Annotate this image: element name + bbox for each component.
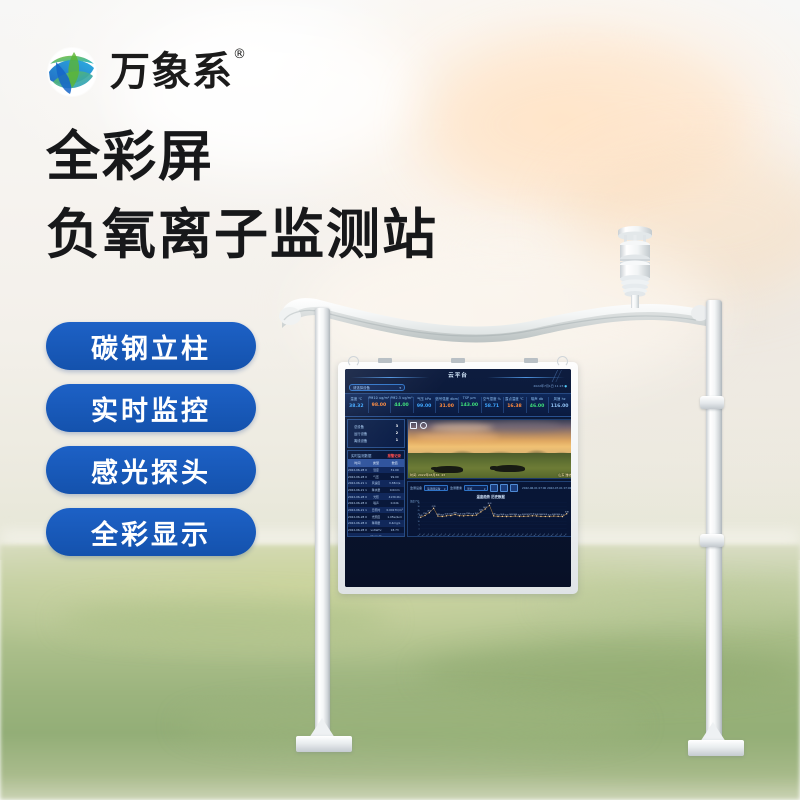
right-post (706, 300, 722, 744)
y-tick-label: 5 (419, 524, 420, 526)
registered-mark: ® (233, 48, 247, 61)
column-header: 时间 (348, 460, 367, 465)
data-label: 16.20 (548, 514, 552, 516)
table-row[interactable]: 2022-06-28 09:33:15气压99.00 (348, 473, 404, 480)
y-tick-label: 30 (418, 506, 420, 508)
headline-block: 全彩屏 负氧离子监测站 (46, 124, 438, 268)
ultrasonic-weather-sensor (604, 222, 666, 308)
data-label: 16.80 (552, 514, 556, 516)
alarm-record-link[interactable]: 报警记录 (387, 453, 401, 458)
data-label: 17.10 (531, 513, 535, 515)
y-tick-label: 0 (419, 528, 420, 530)
device-select[interactable]: 请选择设备 ▾ (349, 384, 405, 391)
data-label: 18.20 (475, 512, 479, 514)
range-end: 2022-07-01 07:00 (547, 486, 571, 490)
table-cell: 18.73 (385, 528, 404, 532)
stat-label: 总设备 (354, 424, 364, 429)
table-cell: 环境气压 (367, 535, 386, 536)
table-cell: 2022-06-28 09:08:30 (348, 501, 367, 505)
grass-streak (180, 700, 640, 750)
dashboard: 云平台 请选择设备 ▾ 2022年7月1日 11:23 ● 温度 ℃38 (345, 369, 571, 587)
grass-streak (60, 600, 390, 640)
metric-label: TSP μm (458, 396, 481, 400)
left-panel: 总设备3运行设备2离线设备1 实时监测数据 报警记录 时间类型数值 2022-0… (347, 419, 405, 537)
metric-value: 143.00 (458, 403, 481, 408)
device-stats-card: 总设备3运行设备2离线设备1 (347, 419, 405, 448)
metric-label: PM2.5 ug/m³ (390, 396, 413, 400)
y-tick-label: 15 (418, 517, 420, 519)
data-label: 16.90 (535, 513, 539, 515)
x-tick-label: 06-01 07 (416, 533, 422, 536)
realtime-data-header: 实时监测数据 报警记录 (348, 451, 404, 459)
data-label: 17.10 (445, 513, 449, 515)
table-cell: 0.0mm (385, 488, 404, 492)
metric-value: 58.71 (481, 404, 504, 409)
data-label: 17.36 (470, 513, 474, 515)
chart-plot: 温度(℃) 0510152025303515.2006-01 0717.6006… (410, 500, 571, 536)
table-cell: 温度 (367, 468, 386, 472)
data-label: 16.80 (513, 514, 517, 516)
table-cell: 2022-06-21 15:58:25 (348, 508, 367, 512)
chart-date-range[interactable]: 2022-06-01 07:00 2022-07-01 07:00 (522, 486, 571, 490)
metric-value: 31.00 (435, 404, 458, 409)
brand-logo: 万象系 ® (44, 44, 233, 100)
table-cell: voltalTv (367, 528, 386, 532)
logo-text: 万象系 (110, 49, 233, 95)
data-label: 17.20 (458, 513, 462, 515)
stat-value: 3 (396, 424, 398, 429)
left-post (315, 308, 330, 740)
feature-pill-3[interactable]: 全彩显示 (46, 508, 256, 556)
data-label: 16.50 (522, 514, 526, 516)
data-label: 18.95 (453, 512, 457, 514)
metric-label: 空气湿度 % (481, 396, 504, 401)
data-label: 17.60 (466, 513, 470, 515)
metric-value: 44.00 (390, 403, 413, 408)
stat-value: 1 (396, 438, 398, 443)
device-select-value: 请选择设备 (353, 386, 370, 390)
stat-row-0: 总设备3 (350, 423, 402, 430)
led-display: 云平台 请选择设备 ▾ 2022年7月1日 11:23 ● 温度 ℃38 (338, 362, 578, 594)
header-timestamp-text: 2022年7月1日 11:23 (533, 384, 563, 388)
table-row[interactable]: 2022-06-28 09:10:38光照4130.0lx (348, 493, 404, 500)
table-cell: 0.0db (385, 501, 404, 505)
product-poster: 万象系 ® 全彩屏 负氧离子监测站 碳钢立柱 实时监控 感光探头 全彩显示 (0, 0, 800, 800)
metrics-bar: 温度 ℃38.32PM10 ug/m³98.00PM2.5 ug/m³44.00… (345, 393, 571, 417)
left-base-plate (296, 736, 352, 752)
metric-7: 露点温度 ℃16.38 (503, 394, 526, 416)
data-label: 19.88 (565, 511, 569, 513)
data-label: 21.40 (427, 510, 431, 512)
camera-feed[interactable]: 时间: 2022年03月36: 43 山东 潍坊 (407, 419, 571, 479)
table-row[interactable]: 2022-06-01 11:50:47环境气压102.398 pa (348, 533, 404, 536)
chart-element-label: 监测要素 (450, 486, 462, 490)
data-label: 31.33 (488, 503, 492, 505)
grass-streak (540, 585, 800, 621)
table-cell: 2022-06-28 08:12:10 (348, 528, 367, 532)
data-label: 16.20 (440, 514, 444, 516)
right-base-gusset (700, 722, 726, 742)
realtime-data-title: 实时监测数据 (351, 453, 371, 458)
bezel-tab (451, 358, 465, 363)
data-label: 17.00 (492, 513, 496, 515)
table-row[interactable]: 2022-06-21 15:58:25日照时0.0017h/m² (348, 507, 404, 514)
table-cell: 2022-06-28 08:59:10 (348, 521, 367, 525)
table-row[interactable]: 2022-06-28 09:33:12光照度1.05w/lum (348, 513, 404, 520)
left-hook-icon (348, 356, 359, 367)
dashboard-subheader: 请选择设备 ▾ 2022年7月1日 11:23 ● (345, 384, 571, 393)
camera-cloud (431, 423, 494, 431)
table-cell: 噪声 (367, 501, 386, 505)
left-base-gusset (309, 718, 335, 738)
feature-pill-list: 碳钢立柱 实时监控 感光探头 全彩显示 (46, 322, 256, 556)
dashboard-title: 云平台 (345, 371, 571, 379)
data-label: 16.50 (556, 514, 560, 516)
chart-device-select[interactable]: 请选择设备 ▾ (424, 485, 448, 491)
chart-element-select[interactable]: 温度 ▾ (464, 485, 488, 491)
feature-pill-0[interactable]: 碳钢立柱 (46, 322, 256, 370)
grass-streak (420, 650, 800, 696)
display-screen: 云平台 请选择设备 ▾ 2022年7月1日 11:23 ● 温度 ℃38 (345, 369, 571, 587)
camera-controls[interactable] (410, 422, 427, 429)
right-hook-icon (557, 356, 568, 367)
table-row[interactable]: 2022-06-28 09:33:19温度31.00 (348, 467, 404, 474)
chart-view-buttons[interactable] (490, 484, 518, 492)
table-cell: 2022-06-28 09:10:38 (348, 495, 367, 499)
metric-label: PM10 ug/m³ (368, 396, 391, 400)
table-cell: 31.00 (385, 468, 404, 472)
data-label: 16.10 (505, 514, 509, 516)
feature-pill-2[interactable]: 感光探头 (46, 446, 256, 494)
data-label: 17.00 (462, 513, 466, 515)
table-cell: 气压 (367, 475, 386, 479)
data-label: 16.70 (526, 514, 530, 516)
snapshot-icon[interactable] (420, 422, 427, 429)
dashboard-body: 总设备3运行设备2离线设备1 实时监测数据 报警记录 时间类型数值 2022-0… (345, 417, 571, 539)
feature-pill-1[interactable]: 实时监控 (46, 384, 256, 432)
table-cell: 日照时 (367, 508, 386, 512)
metric-label: 露点温度 ℃ (503, 396, 526, 401)
range-start: 2022-06-01 07:00 (522, 486, 546, 490)
metric-5: TSP μm143.00 (458, 394, 481, 416)
headline-line-1: 全彩屏 (46, 124, 438, 190)
table-cell: 光照度 (367, 515, 386, 519)
data-label: 15.20 (419, 515, 423, 517)
table-cell: 102.398 pa (385, 535, 404, 536)
metric-value: 116.00 (548, 404, 571, 409)
data-label: 16.80 (436, 514, 440, 516)
line-chart-icon[interactable] (500, 484, 508, 492)
metric-value: 99.00 (413, 404, 436, 409)
metric-label: 信号强度 dbm (435, 396, 458, 401)
chart-ylabel: 温度(℃) (410, 499, 419, 503)
chart-device-value: 请选择设备 (427, 487, 440, 491)
table-cell: 0.0017h/m² (385, 508, 404, 512)
column-header: 类型 (367, 460, 386, 465)
lower-mount-clamp (700, 534, 724, 547)
stat-label: 运行设备 (354, 431, 367, 436)
camera-timestamp: 时间: 2022年03月36: 43 (410, 473, 445, 477)
chevron-down-icon: ▾ (399, 385, 401, 392)
status-dot-icon: ● (564, 384, 567, 388)
table-row[interactable]: 2022-06-28 09:08:30噪声0.0db (348, 500, 404, 507)
table-cell: 3.38m/s (385, 481, 404, 485)
table-icon[interactable] (510, 484, 518, 492)
metric-0: 温度 ℃38.32 (345, 394, 368, 416)
metric-value: 16.38 (503, 404, 526, 409)
data-label: 17.40 (449, 513, 453, 515)
data-label: 16.20 (496, 514, 500, 516)
upper-mount-clamp (700, 396, 724, 409)
table-cell: 2022-06-28 09:33:15 (348, 475, 367, 479)
bezel-tab (524, 358, 538, 363)
table-row[interactable]: 2022-06-28 08:12:10voltalTv18.73 (348, 527, 404, 534)
stat-label: 离线设备 (354, 438, 367, 443)
table-cell: 0.4mg/L (385, 521, 404, 525)
logo-wordmark: 万象系 ® (110, 52, 233, 92)
chart-device-label: 监测设备 (410, 486, 422, 490)
metric-value: 46.00 (526, 404, 549, 409)
chevron-down-icon: ▾ (484, 486, 485, 491)
stat-row-2: 离线设备1 (350, 437, 402, 444)
data-label: 16.30 (509, 514, 513, 516)
chart-element-value: 温度 (467, 487, 472, 491)
headline-line-2: 负氧离子监测站 (46, 202, 438, 268)
table-cell: 风速度 (367, 481, 386, 485)
data-label: 26.33 (483, 506, 487, 508)
metric-6: 空气湿度 %58.71 (481, 394, 504, 416)
y-tick-label: 10 (418, 521, 420, 523)
table-cell: 4130.0lx (385, 495, 404, 499)
table-row[interactable]: 2022-06-21 16:33:11降水量0.0mm (348, 487, 404, 494)
metric-9: 风速 hz116.00 (548, 394, 571, 416)
chevron-down-icon: ▾ (444, 486, 445, 491)
stat-row-1: 运行设备2 (350, 430, 402, 437)
chart-toolbar: 监测设备 请选择设备 ▾ 监测要素 温度 ▾ (408, 482, 571, 493)
table-cell: 降水量 (367, 488, 386, 492)
metric-value: 38.32 (345, 404, 368, 409)
stat-value: 2 (396, 431, 398, 436)
chart-title: 温度趋势 历史数据 (408, 494, 571, 499)
y-tick-label: 25 (418, 510, 420, 512)
realtime-data-card: 实时监测数据 报警记录 时间类型数值 2022-06-28 09:33:19温度… (347, 450, 405, 537)
camera-cloud (487, 421, 560, 431)
table-cell: 1.05w/lum (385, 515, 404, 519)
metric-label: 温度 ℃ (345, 396, 368, 401)
data-table-body[interactable]: 2022-06-28 09:33:19温度31.002022-06-28 09:… (348, 467, 404, 536)
dashboard-header: 云平台 (345, 369, 571, 384)
table-cell: 2022-06-01 11:50:47 (348, 535, 367, 536)
center-panel: 时间: 2022年03月36: 43 山东 潍坊 监测设备 请选择设备 ▾ (407, 419, 571, 537)
data-label: 17.60 (423, 513, 427, 515)
table-cell: 2022-06-28 09:33:12 (348, 515, 367, 519)
data-label: 16.40 (539, 514, 543, 516)
metric-value: 98.00 (368, 403, 391, 408)
bezel-tab (378, 358, 392, 363)
camera-location-tag: 山东 潍坊 (558, 473, 571, 477)
bar-chart-icon[interactable] (490, 484, 498, 492)
header-timestamp: 2022年7月1日 11:23 ● (533, 384, 567, 388)
table-cell: 2022-06-21 16:40:08 (348, 481, 367, 485)
metric-label: 气压 kPa (413, 396, 436, 401)
data-label: 16.20 (518, 514, 522, 516)
camera-cloud (416, 433, 499, 440)
metric-3: 气压 kPa99.00 (413, 394, 436, 416)
data-label: 16.30 (543, 514, 547, 516)
table-row[interactable]: 2022-06-21 16:40:08风速度3.38m/s (348, 480, 404, 487)
cattle-silhouette (494, 465, 525, 473)
trend-chart-card: 监测设备 请选择设备 ▾ 监测要素 温度 ▾ (407, 481, 571, 537)
table-cell: 2022-06-28 09:33:19 (348, 468, 367, 472)
metric-2: PM2.5 ug/m³44.00 (390, 394, 413, 416)
table-cell: 降雨量 (367, 521, 386, 525)
data-table-header: 时间类型数值 (348, 459, 404, 467)
fullscreen-icon[interactable] (410, 422, 417, 429)
metric-4: 信号强度 dbm31.00 (435, 394, 458, 416)
table-row[interactable]: 2022-06-28 08:59:10降雨量0.4mg/L (348, 520, 404, 527)
table-cell: 光照 (367, 495, 386, 499)
table-cell: 99.00 (385, 475, 404, 479)
table-cell: 2022-06-21 16:33:11 (348, 488, 367, 492)
column-header: 数值 (385, 460, 404, 465)
metric-8: 噪声 db46.00 (526, 394, 549, 416)
data-label: 27.31 (432, 506, 436, 508)
right-base-plate (688, 740, 744, 756)
globe-icon (44, 44, 100, 100)
data-label: 16.40 (500, 514, 504, 516)
data-label: 22.40 (479, 509, 483, 511)
metric-1: PM10 ug/m³98.00 (368, 394, 391, 416)
data-label: 16.10 (561, 514, 565, 516)
metric-label: 风速 hz (548, 396, 571, 401)
metric-label: 噪声 db (526, 396, 549, 401)
